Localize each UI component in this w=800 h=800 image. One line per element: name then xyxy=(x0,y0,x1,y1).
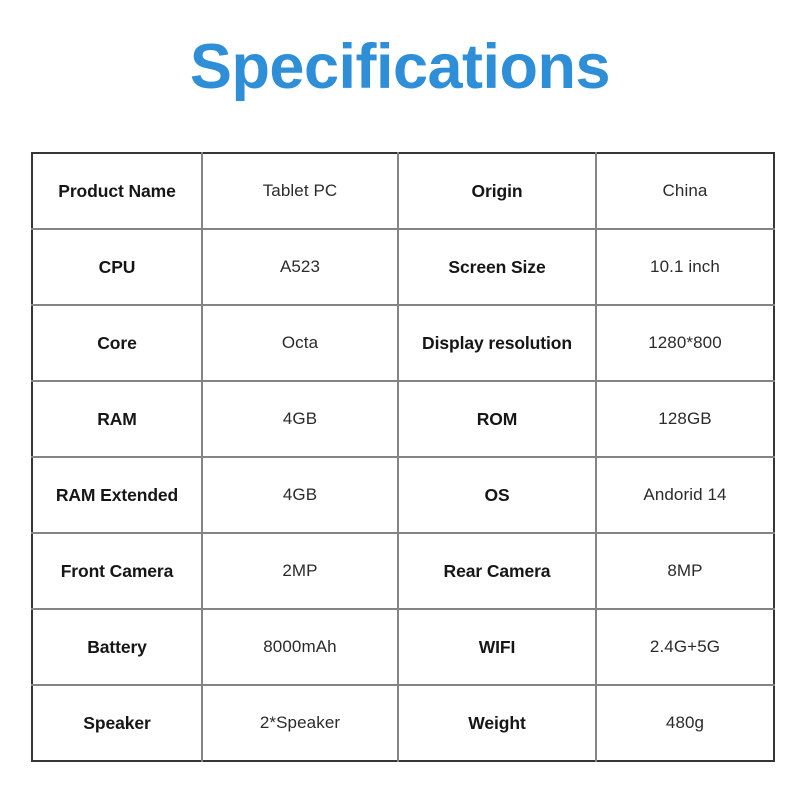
spec-value: 8000mAh xyxy=(202,609,398,685)
spec-label: Front Camera xyxy=(32,533,202,609)
spec-label: OS xyxy=(398,457,596,533)
spec-label: Battery xyxy=(32,609,202,685)
spec-value: 4GB xyxy=(202,381,398,457)
spec-label: ROM xyxy=(398,381,596,457)
spec-value: Andorid 14 xyxy=(596,457,774,533)
spec-value: 2*Speaker xyxy=(202,685,398,761)
table-row: Product Name Tablet PC Origin China xyxy=(32,153,774,229)
spec-label: WIFI xyxy=(398,609,596,685)
spec-label: CPU xyxy=(32,229,202,305)
table-row: Front Camera 2MP Rear Camera 8MP xyxy=(32,533,774,609)
table-row: Core Octa Display resolution 1280*800 xyxy=(32,305,774,381)
spec-label: Core xyxy=(32,305,202,381)
spec-value: China xyxy=(596,153,774,229)
page-title-container: Specifications xyxy=(0,34,800,100)
spec-label: Origin xyxy=(398,153,596,229)
spec-value: 1280*800 xyxy=(596,305,774,381)
table-row: RAM 4GB ROM 128GB xyxy=(32,381,774,457)
spec-label: RAM xyxy=(32,381,202,457)
table-row: RAM Extended 4GB OS Andorid 14 xyxy=(32,457,774,533)
specifications-table: Product Name Tablet PC Origin China CPU … xyxy=(31,152,775,762)
spec-value: 8MP xyxy=(596,533,774,609)
spec-label: Rear Camera xyxy=(398,533,596,609)
spec-value: A523 xyxy=(202,229,398,305)
specifications-page: Specifications Product Name Tablet PC Or… xyxy=(0,0,800,800)
spec-label: Product Name xyxy=(32,153,202,229)
spec-value: 128GB xyxy=(596,381,774,457)
spec-label: Display resolution xyxy=(398,305,596,381)
spec-label: RAM Extended xyxy=(32,457,202,533)
specifications-table-body: Product Name Tablet PC Origin China CPU … xyxy=(32,153,774,761)
table-row: Speaker 2*Speaker Weight 480g xyxy=(32,685,774,761)
spec-value: 2MP xyxy=(202,533,398,609)
spec-label: Speaker xyxy=(32,685,202,761)
spec-value: Octa xyxy=(202,305,398,381)
page-title: Specifications xyxy=(190,34,610,100)
spec-label: Weight xyxy=(398,685,596,761)
table-row: CPU A523 Screen Size 10.1 inch xyxy=(32,229,774,305)
spec-value: 480g xyxy=(596,685,774,761)
spec-value: 2.4G+5G xyxy=(596,609,774,685)
spec-label: Screen Size xyxy=(398,229,596,305)
spec-value: Tablet PC xyxy=(202,153,398,229)
table-row: Battery 8000mAh WIFI 2.4G+5G xyxy=(32,609,774,685)
spec-value: 4GB xyxy=(202,457,398,533)
spec-value: 10.1 inch xyxy=(596,229,774,305)
